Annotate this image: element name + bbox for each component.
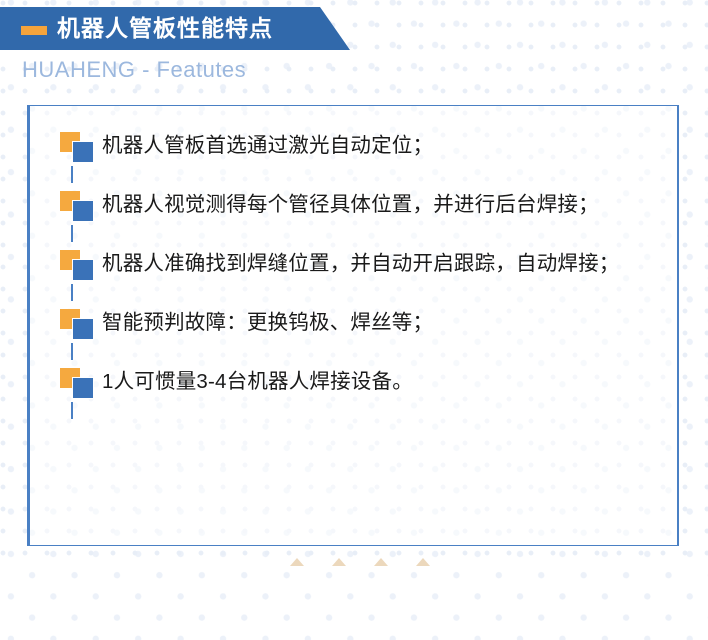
orange-dash-icon — [21, 26, 47, 35]
list-item: 机器人管板首选通过激光自动定位； — [58, 122, 658, 181]
bullet-marker — [58, 358, 102, 405]
blue-square-icon — [72, 377, 94, 399]
feature-list: 机器人管板首选通过激光自动定位； 机器人视觉测得每个管径具体位置，并进行后台焊接… — [58, 122, 658, 405]
list-item: 智能预判故障：更换钨极、焊丝等； — [58, 299, 658, 358]
list-item-text: 1人可惯量3-4台机器人焊接设备。 — [102, 358, 658, 405]
blue-square-icon — [72, 141, 94, 163]
bullet-marker — [58, 181, 102, 240]
header-banner: 机器人管板性能特点 — [0, 7, 350, 50]
list-item-text: 机器人管板首选通过激光自动定位； — [102, 122, 658, 181]
page-subtitle: HUAHENG - Featutes — [22, 57, 246, 83]
page-title: 机器人管板性能特点 — [57, 7, 273, 50]
list-item: 机器人视觉测得每个管径具体位置，并进行后台焊接； — [58, 181, 658, 240]
list-item: 机器人准确找到焊缝位置，并自动开启跟踪，自动焊接； — [58, 240, 658, 299]
blue-square-icon — [72, 200, 94, 222]
connector-line — [71, 402, 73, 419]
bottom-decoration-triangles — [0, 552, 708, 566]
list-item-text: 机器人准确找到焊缝位置，并自动开启跟踪，自动焊接； — [102, 240, 658, 299]
bullet-marker — [58, 122, 102, 181]
list-item: 1人可惯量3-4台机器人焊接设备。 — [58, 358, 658, 405]
bullet-marker — [58, 240, 102, 299]
blue-square-icon — [72, 318, 94, 340]
list-item-text: 机器人视觉测得每个管径具体位置，并进行后台焊接； — [102, 181, 658, 240]
list-item-text: 智能预判故障：更换钨极、焊丝等； — [102, 299, 658, 358]
blue-square-icon — [72, 259, 94, 281]
bullet-marker — [58, 299, 102, 358]
